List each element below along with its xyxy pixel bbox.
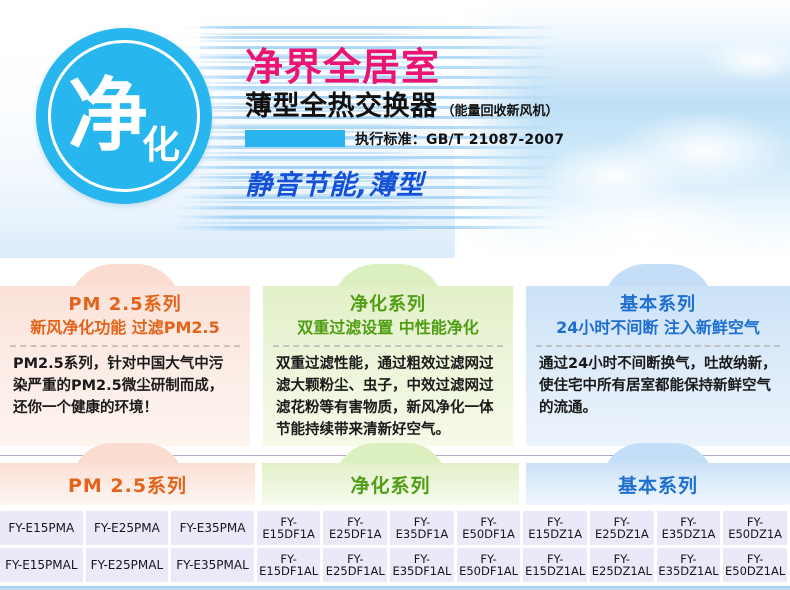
model-code-cell: FY-E15DZ1AL [523,548,587,582]
logo-text: 净 化 [36,28,212,204]
panel-body-basic: 基本系列 24小时不间断 注入新鲜空气 通过24小时不间断换气，吐故纳新，使住宅… [526,286,790,446]
product-subname: （能量回收新风机） [442,100,559,119]
model-code-cell: FY-E50DF1AL [457,548,521,582]
headline-pink: 净界全居室 [245,48,765,88]
feature-panel-basic: 基本系列 24小时不间断 注入新鲜空气 通过24小时不间断换气，吐故纳新，使住宅… [526,286,790,446]
group-header-purify: 净化系列 [262,463,519,505]
feature-panels: PM 2.5系列 新风净化功能 过滤PM2.5 PM2.5系列，针对中国大气中污… [0,258,790,448]
model-table: PM 2.5系列 净化系列 基本系列 FY-E15PMAFY-E25PMAFY-… [0,455,790,590]
panel-body-purify: 净化系列 双重过滤设置 中性能净化 双重过滤性能，通过粗效过滤网过滤大颗粉尘、虫… [263,286,513,446]
model-code-grid: FY-E15PMAFY-E25PMAFY-E35PMAFY-E15DF1AFY-… [0,511,790,585]
product-name: 薄型全热交换器 [245,92,438,122]
hero-section: 净 化 净界全居室 薄型全热交换器 （能量回收新风机） 执行标准：GB/T 21… [0,0,790,258]
headline-block: 净界全居室 薄型全热交换器 （能量回收新风机） 执行标准：GB/T 21087-… [245,48,765,202]
feature-title-purify: 净化系列 [263,286,513,317]
model-code-cell: FY-E35PMA [171,511,254,545]
model-code-cell: FY-E25DZ1A [590,511,654,545]
model-code-cell: FY-E15DF1AL [257,548,321,582]
model-code-cell: FY-E15PMA [0,511,83,545]
slogan: 静音节能,薄型 [245,163,765,202]
model-code-cell: FY-E25DF1A [323,511,387,545]
promo-banner-page: 净 化 净界全居室 薄型全热交换器 （能量回收新风机） 执行标准：GB/T 21… [0,0,790,590]
feature-desc-basic: 通过24小时不间断换气，吐故纳新，使住宅中所有居室都能保持新鲜空气的流通。 [526,347,790,419]
group-header-label-pm25: PM 2.5系列 [0,463,255,505]
group-header-basic: 基本系列 [526,463,790,505]
feature-desc-purify: 双重过滤性能，通过粗效过滤网过滤大颗粉尘、虫子，中效过滤网过滤花粉等有害物质，新… [263,347,513,441]
feature-panel-purify: 净化系列 双重过滤设置 中性能净化 双重过滤性能，通过粗效过滤网过滤大颗粉尘、虫… [263,286,513,446]
bottom-accent-bar [0,586,790,590]
model-code-cell: FY-E35DF1A [390,511,454,545]
feature-panel-pm25: PM 2.5系列 新风净化功能 过滤PM2.5 PM2.5系列，针对中国大气中污… [0,286,250,446]
model-code-cell: FY-E15DZ1A [523,511,587,545]
headline-row-product: 薄型全热交换器 （能量回收新风机） [245,92,765,122]
group-header-pm25: PM 2.5系列 [0,463,255,505]
model-code-cell: FY-E25DF1AL [323,548,387,582]
model-code-cell: FY-E15PMAL [0,548,83,582]
model-code-cell: FY-E35DZ1AL [657,548,721,582]
divider-dashed-purify [273,345,503,347]
feature-title-basic: 基本系列 [526,286,790,317]
model-code-cell: FY-E50DZ1A [723,511,787,545]
feature-desc-pm25: PM2.5系列，针对中国大气中污染严重的PM2.5微尘研制而成，还你一个健康的环… [0,347,250,419]
logo-main-char: 净 [68,76,146,156]
group-header-label-purify: 净化系列 [262,463,519,505]
logo-sub-char: 化 [142,126,180,164]
divider-dashed-basic [536,345,780,347]
feature-subtitle-basic: 24小时不间断 注入新鲜空气 [526,318,790,339]
table-row: FY-E15PMAFY-E25PMAFY-E35PMAFY-E15DF1AFY-… [0,511,790,545]
group-header-label-basic: 基本系列 [526,463,790,505]
brand-logo-badge: 净 化 [36,28,212,204]
panel-body-pm25: PM 2.5系列 新风净化功能 过滤PM2.5 PM2.5系列，针对中国大气中污… [0,286,250,446]
model-code-cell: FY-E15DF1A [257,511,321,545]
model-code-cell: FY-E25PMA [86,511,169,545]
model-code-cell: FY-E35DF1AL [390,548,454,582]
model-code-cell: FY-E50DF1A [457,511,521,545]
blue-chip-decoration [245,130,345,147]
standard-label: 执行标准：GB/T 21087-2007 [355,129,564,149]
divider-dashed-pm25 [10,345,240,347]
feature-title-pm25: PM 2.5系列 [0,286,250,317]
feature-subtitle-purify: 双重过滤设置 中性能净化 [263,318,513,339]
model-code-cell: FY-E35DZ1A [657,511,721,545]
model-code-cell: FY-E35PMAL [171,548,254,582]
model-code-cell: FY-E25DZ1AL [590,548,654,582]
model-code-cell: FY-E25PMAL [86,548,169,582]
feature-subtitle-pm25: 新风净化功能 过滤PM2.5 [0,318,250,339]
table-group-headers: PM 2.5系列 净化系列 基本系列 [0,463,790,505]
standard-row: 执行标准：GB/T 21087-2007 [245,129,765,149]
table-row: FY-E15PMALFY-E25PMALFY-E35PMALFY-E15DF1A… [0,548,790,582]
model-code-cell: FY-E50DZ1AL [723,548,787,582]
